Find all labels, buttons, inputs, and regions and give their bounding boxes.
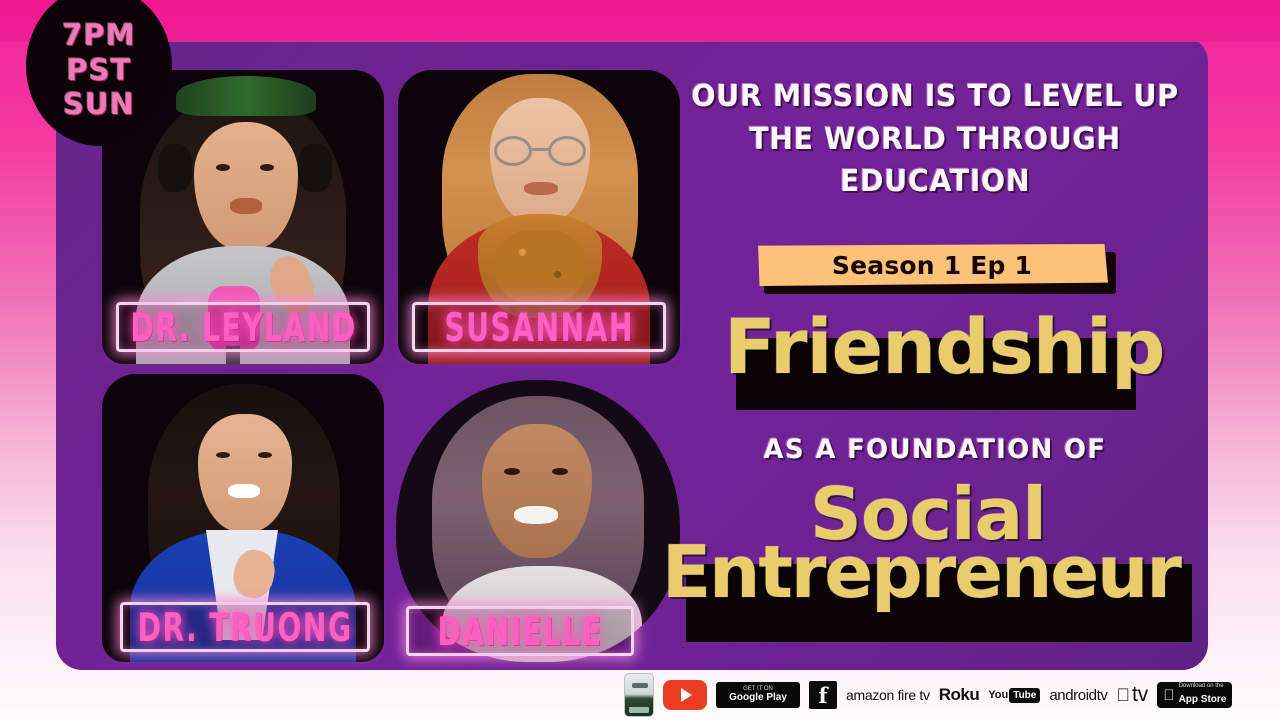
guest-name-2: DR. TRUONG [138,604,353,650]
app-store-text: Download on the App Store [1179,683,1227,708]
youtube-tv-label-a: You [988,689,1008,701]
apple-tv-logo[interactable]:  tv [1116,683,1148,707]
schedule-day: SUN [63,88,135,120]
title-foundation-text: AS A FOUNDATION OF [681,434,1190,465]
e360tv-app-icon[interactable] [624,673,654,717]
schedule-time: 7PM [62,19,135,51]
episode-badge: Season 1 Ep 1 [756,244,1116,292]
guest-name-box-0: DR. LEYLAND [116,302,370,352]
guest-name-0: DR. LEYLAND [130,304,356,350]
guest-name-3: DANIELLE [437,608,602,654]
title-column: OUR MISSION IS TO LEVEL UP THE WORLD THR… [670,48,1200,664]
guest-name-1: SUSANNAH [444,304,633,350]
guest-card-3[interactable]: DANIELLE [396,380,680,662]
youtube-tv-logo[interactable]: You Tube [988,688,1040,703]
google-play-label: Google Play [729,692,787,704]
amazon-fire-tv-label[interactable]: amazon fire tv [846,687,930,703]
facebook-glyph: f [818,685,827,706]
app-store-small-label: Download on the [1179,683,1227,690]
app-store-label: App Store [1179,694,1227,705]
roku-label[interactable]: Roku [939,685,980,705]
title-friendship-text: Friendship [724,302,1164,391]
top-banner [0,0,1280,42]
youtube-tv-label-b: Tube [1009,688,1040,703]
platform-logo-strip: GET IT ON Google Play f amazon fire tv R… [620,670,1280,720]
guest-grid: DR. LEYLAND SUSANNAH [96,44,686,664]
android-tv-label[interactable]: androidtv [1049,687,1107,704]
apple-tv-label: tv [1132,683,1148,707]
title-friendship: Friendship [700,304,1170,414]
app-store-badge[interactable]:  Download on the App Store [1157,682,1232,708]
title-entrepreneur-text: Entrepreneur [662,530,1180,614]
guest-card-1[interactable]: SUSANNAH [398,70,680,364]
youtube-icon[interactable] [663,680,707,710]
episode-badge-label: Season 1 Ep 1 [832,251,1032,280]
guest-name-box-1: SUSANNAH [412,302,666,352]
guest-name-box-2: DR. TRUONG [120,602,370,652]
title-entrepreneur: Entrepreneur [662,536,1208,648]
episode-badge-body: Season 1 Ep 1 [756,244,1108,286]
guest-name-box-3: DANIELLE [406,606,634,656]
app-store-apple-icon:  [1163,688,1174,703]
google-play-badge[interactable]: GET IT ON Google Play [716,682,800,708]
main-panel: DR. LEYLAND SUSANNAH [56,36,1208,670]
guest-card-2[interactable]: DR. TRUONG [102,374,384,662]
apple-icon:  [1116,686,1130,704]
facebook-icon[interactable]: f [809,681,837,709]
mission-statement: OUR MISSION IS TO LEVEL UP THE WORLD THR… [683,76,1187,204]
schedule-timezone: PST [67,54,132,86]
